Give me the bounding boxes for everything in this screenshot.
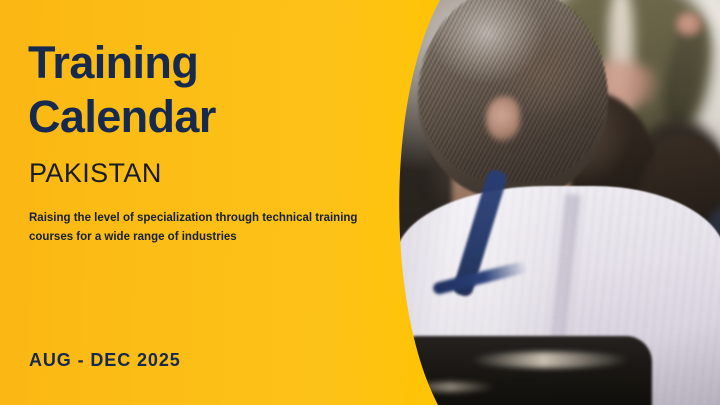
page-title: Training Calendar xyxy=(28,36,216,144)
date-range-label: AUG - DEC 2025 xyxy=(29,350,181,371)
training-calendar-poster: Training Calendar PAKISTAN Raising the l… xyxy=(0,0,720,405)
poster-copy: Training Calendar PAKISTAN Raising the l… xyxy=(28,0,388,405)
country-label: PAKISTAN xyxy=(29,158,162,189)
poster-description: Raising the level of specialization thro… xyxy=(29,209,379,246)
